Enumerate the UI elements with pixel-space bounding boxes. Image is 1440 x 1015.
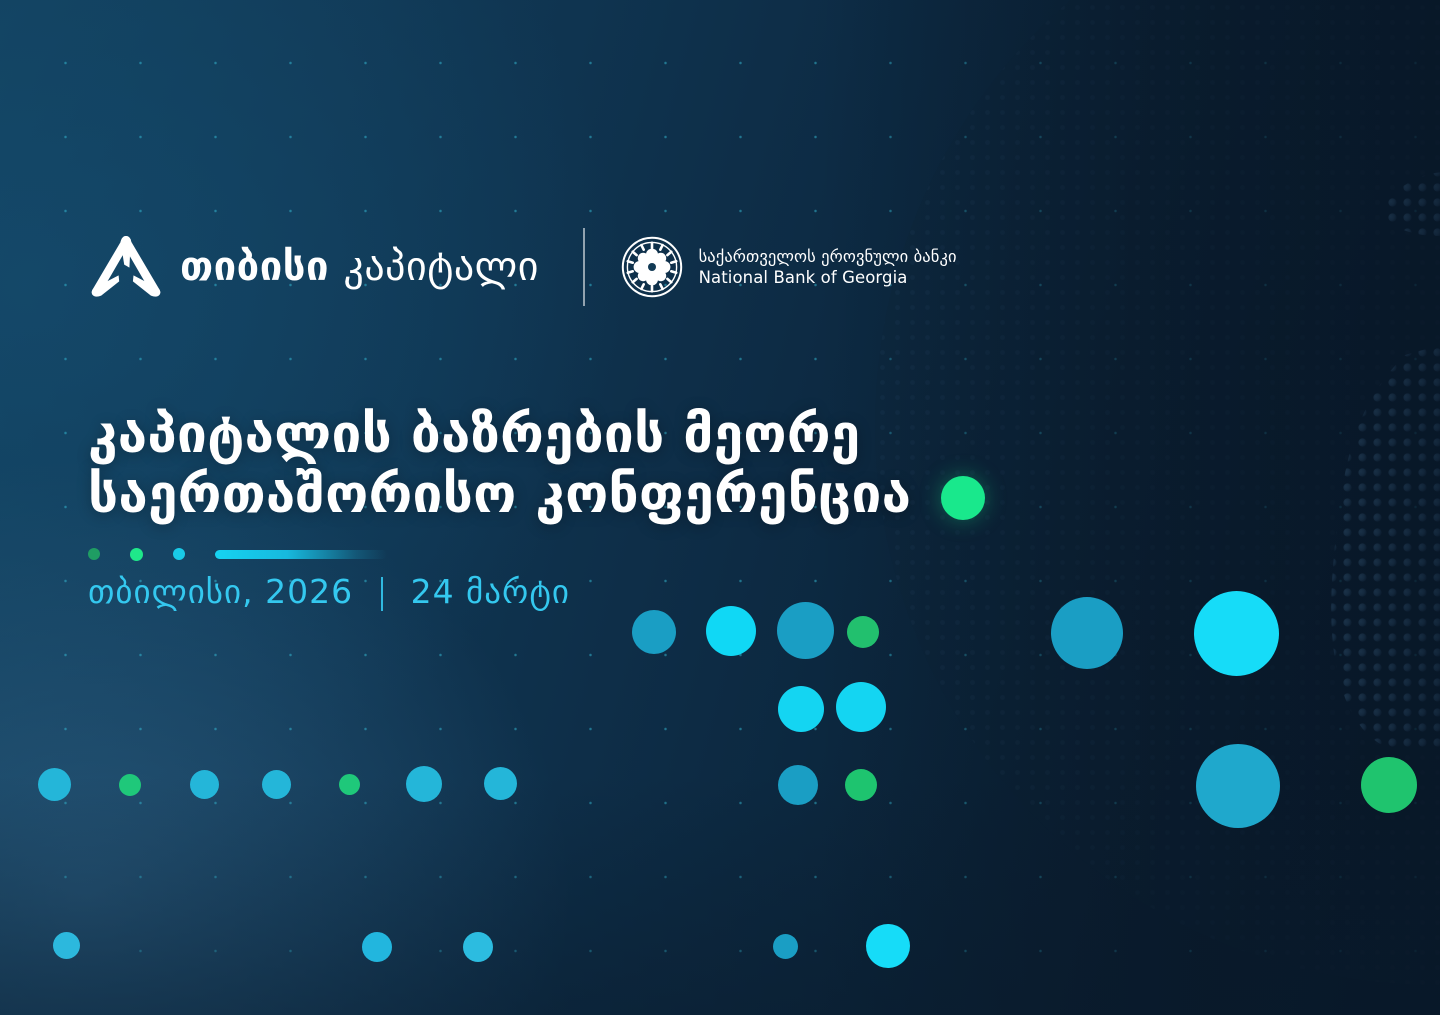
accent-gradient-bar [215, 550, 387, 559]
event-location-year: თბილისი, 2026 [88, 572, 353, 611]
title-accent-dot-icon [941, 476, 985, 520]
bubble-low-2 [362, 932, 392, 962]
bubble-row-2 [119, 774, 141, 796]
bubble-row-6 [406, 766, 442, 802]
bubble-big-3 [1196, 744, 1280, 828]
conference-banner: თიბისი კაპიტალი [0, 0, 1440, 1015]
conference-title-line-1: კაპიტალის ბაზრების მეორე [88, 405, 1048, 465]
bubble-row-7 [484, 767, 517, 800]
bubble-row-3 [190, 770, 219, 799]
bubble-big-2 [1194, 591, 1279, 676]
bubble-row-1 [38, 768, 71, 801]
bubble-mid-2 [706, 606, 756, 656]
bubble-mid-1 [632, 610, 676, 654]
accent-dot-cyan [173, 548, 185, 560]
bubble-mid-3 [777, 602, 834, 659]
bubble-mid-7 [778, 765, 818, 805]
tbc-wordmark: თიბისი კაპიტალი [180, 247, 539, 287]
nbg-name-georgian: საქართველოს ეროვნული ბანკი [699, 246, 957, 267]
logo-bar: თიბისი კაპიტალი [90, 228, 957, 306]
bubble-low-1 [53, 932, 80, 959]
conference-title-line-2-row: საერთაშორისო კონფერენცია [88, 465, 1048, 525]
bubble-big-1 [1051, 597, 1123, 669]
event-day-month: 24 მარტი [411, 572, 570, 611]
accent-dot-green-dark [88, 548, 100, 560]
tbc-triangle-logo-icon [90, 234, 162, 300]
logo-divider [583, 228, 585, 306]
bubble-low-3 [463, 932, 493, 962]
tbc-wordmark-light: კაპიტალი [343, 244, 539, 290]
national-bank-of-georgia-logo: საქართველოს ეროვნული ბანკი National Bank… [621, 236, 957, 298]
national-bank-of-georgia-seal-icon [621, 236, 683, 298]
conference-title: კაპიტალის ბაზრების მეორე საერთაშორისო კო… [88, 405, 1048, 526]
conference-title-line-2: საერთაშორისო კონფერენცია [88, 465, 911, 525]
tbc-wordmark-bold: თიბისი [180, 244, 329, 290]
nbg-name-english: National Bank of Georgia [699, 267, 957, 288]
bubble-row-5 [339, 774, 360, 795]
accent-dot-green [130, 548, 143, 561]
event-dateline: თბილისი, 2026 24 მარტი [88, 572, 570, 611]
bubble-mid-6 [836, 682, 886, 732]
dateline-separator [381, 577, 383, 611]
bubble-mid-5 [778, 686, 824, 732]
tbc-capital-logo: თიბისი კაპიტალი [90, 234, 539, 300]
accent-rule [88, 546, 387, 562]
bubble-row-4 [262, 770, 291, 799]
bubble-mid-4 [847, 616, 879, 648]
bubble-low-5 [866, 924, 910, 968]
bubble-big-4 [1361, 757, 1417, 813]
bubble-low-4 [773, 934, 798, 959]
national-bank-of-georgia-name: საქართველოს ეროვნული ბანკი National Bank… [699, 246, 957, 288]
bubble-mid-8 [845, 769, 877, 801]
